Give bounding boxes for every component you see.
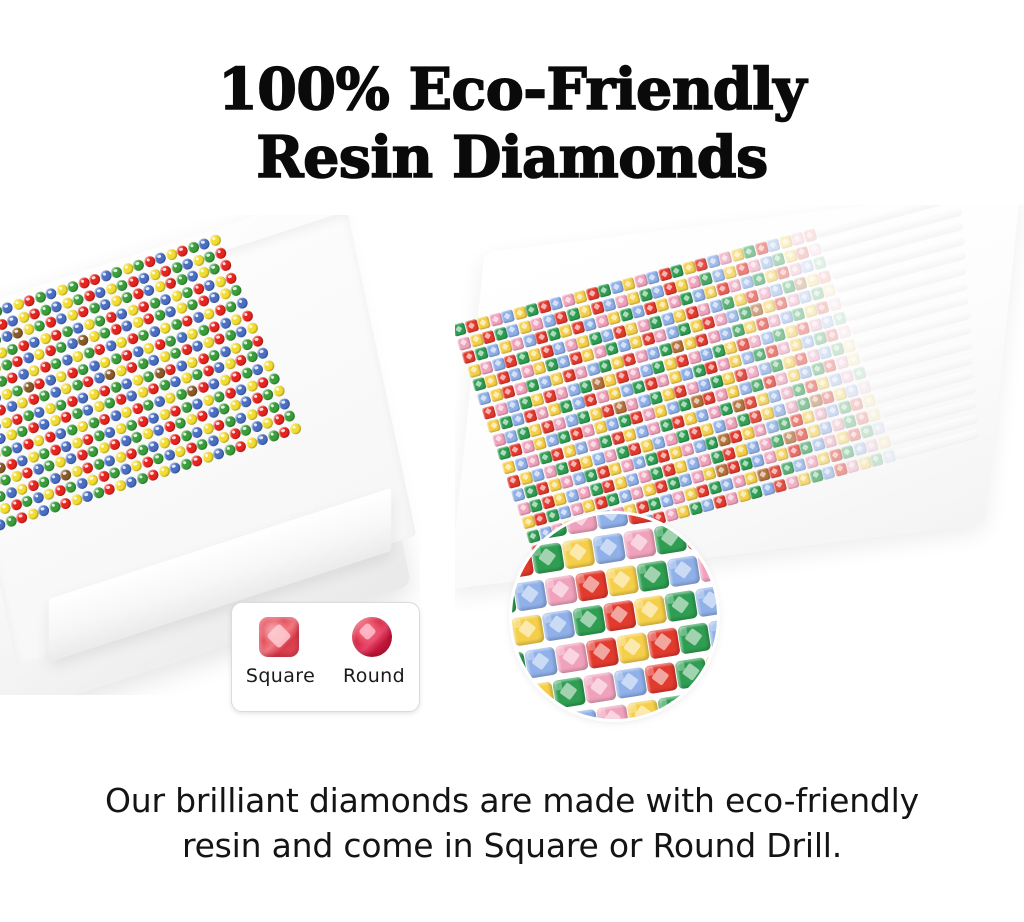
drill-bead [807,242,822,257]
magnified-drill-bead [636,560,670,592]
magnified-drill-bead [595,514,629,530]
drill-shape-legend: Square Round [231,602,420,712]
drill-bead [256,347,270,361]
magnified-drill-bead [613,667,647,699]
drill-bead [876,435,891,450]
drill-bead [817,270,832,285]
round-drill-icon [352,617,392,657]
magnified-drill-bead [627,699,661,719]
drill-bead [208,233,222,247]
drill-bead [272,384,286,398]
magnified-drill-bead [657,694,691,719]
magnified-drill-bead [667,555,701,587]
magnified-drill-bead [592,532,626,564]
drill-bead [832,311,847,326]
title-line-2: Resin Diamonds [0,124,1024,192]
drill-bead [267,372,281,386]
drill-bead [283,409,297,423]
magnified-drill-bead [572,604,606,636]
square-label: Square [246,665,315,687]
legend-swatches [232,617,419,657]
drill-bead [827,297,842,312]
drill-bead [245,321,259,335]
drill-bead [240,309,254,323]
drill-bead [235,296,249,310]
square-drill-icon [259,617,299,657]
magnified-drill-bead [675,657,709,689]
magnified-drill-bead [552,676,586,708]
round-label: Round [343,665,405,687]
magnified-drill-bead [688,689,717,719]
drill-bead [866,408,881,423]
product-infographic: 100% Eco-Friendly Resin Diamonds Square … [0,0,1024,922]
magnified-drill-bead [697,550,717,582]
magnified-drill-bead [564,514,598,535]
caption-line-2: resin and come in Square or Round Drill. [52,823,972,868]
magnified-drill-bead [644,662,678,694]
magnified-drill-bead [596,704,630,719]
magnified-drill-bead [583,672,617,704]
magnified-drill-bead [585,637,619,669]
magnified-drill-bead [513,579,547,611]
drill-bead [213,246,227,260]
drill-bead [842,339,857,354]
page-title: 100% Eco-Friendly Resin Diamonds [0,56,1024,192]
magnified-drill-bead [542,609,576,641]
magnified-drill-bead [623,528,657,560]
title-line-1: 100% Eco-Friendly [218,56,806,123]
magnified-drill-rows [512,514,717,719]
drill-bead [881,449,896,464]
magnified-drill-bead [687,514,717,515]
magnified-drill-bead [512,514,537,544]
drill-bead [288,422,302,436]
product-caption: Our brilliant diamonds are made with eco… [52,778,972,868]
magnified-drill-bead [575,570,609,602]
drill-bead [219,259,233,273]
magnified-drill-bead [603,600,637,632]
legend-labels: Square Round [232,665,419,687]
drill-bead [857,380,872,395]
caption-line-1: Our brilliant diamonds are made with eco… [52,778,972,823]
magnified-drill-bead [531,542,565,574]
magnified-drill-bead [625,514,659,525]
magnified-drill-bead [544,574,578,606]
magnified-drill-bead [533,514,567,540]
magnified-drill-bead [605,565,639,597]
magnified-drill-bead [633,595,667,627]
magnified-drill-bead [647,627,681,659]
magnified-drill-bead [695,585,717,617]
magnified-drill-bead [512,614,545,646]
drill-bead [852,366,867,381]
magnified-drill-bead [522,681,556,713]
magnified-drill-bead [555,642,589,674]
magnified-drill-bead [677,622,711,654]
magnified-drill-bead [664,590,698,622]
drill-bead [802,228,817,243]
drill-bead [229,284,243,298]
magnified-drill-bead [653,523,687,555]
magnified-detail-circle [512,514,717,719]
magnified-drill-bead [684,518,717,550]
magnified-drill-bead [562,537,596,569]
magnified-drill-bead [616,632,650,664]
magnified-drill-bead [656,514,690,520]
drill-bead [261,359,275,373]
magnified-drill-bead [524,646,558,678]
